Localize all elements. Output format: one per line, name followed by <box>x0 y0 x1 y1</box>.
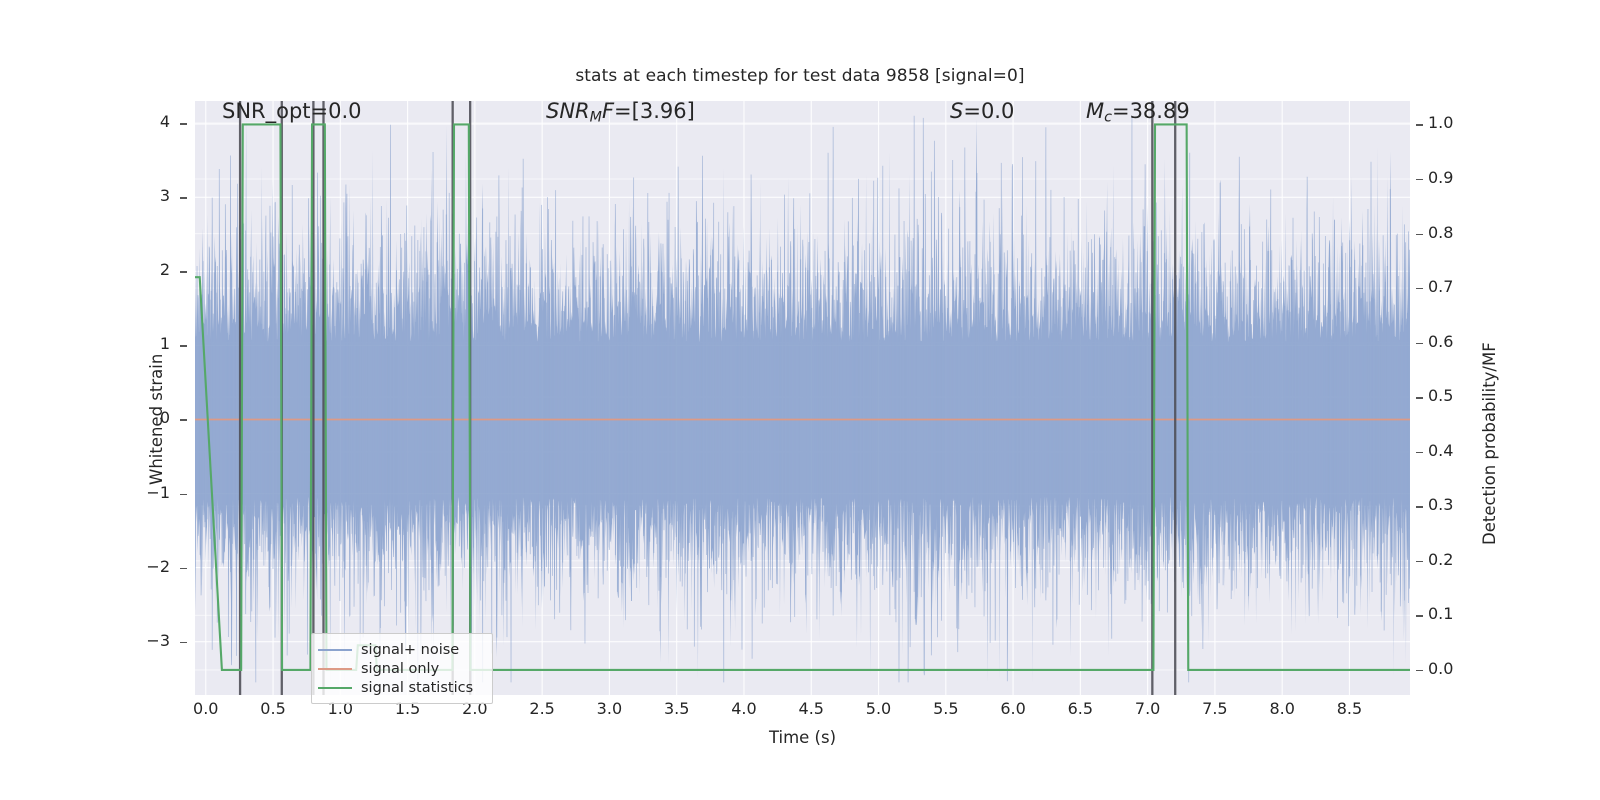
y-tick-label-right: 1.0 <box>1428 113 1453 132</box>
y-tick-mark-right <box>1416 615 1423 616</box>
y-tick-label-right: 0.5 <box>1428 386 1453 405</box>
y-tick-label-right: 0.4 <box>1428 441 1453 460</box>
y-tick-mark-right <box>1416 288 1423 289</box>
chart-legend: signal+ noisesignal onlysignal statistic… <box>311 633 493 704</box>
x-tick-label: 3.0 <box>597 699 622 718</box>
y-tick-mark-right <box>1416 506 1423 507</box>
y-tick-mark-left <box>180 568 187 569</box>
x-tick-label: 4.0 <box>731 699 756 718</box>
series-signal-noise <box>195 116 1410 683</box>
y-tick-mark-left <box>180 642 187 643</box>
y-tick-label-right: 0.0 <box>1428 659 1453 678</box>
y-tick-label-right: 0.2 <box>1428 550 1453 569</box>
y-tick-mark-right <box>1416 452 1423 453</box>
x-tick-label: 7.0 <box>1135 699 1160 718</box>
y-tick-label-right: 0.1 <box>1428 604 1453 623</box>
annotation-s-stat: S=0.0 <box>950 99 1014 123</box>
plot-svg <box>195 101 1410 695</box>
legend-label: signal+ noise <box>361 642 459 658</box>
x-tick-label: 5.5 <box>933 699 958 718</box>
y-tick-mark-right <box>1416 670 1423 671</box>
chart-title: stats at each timestep for test data 985… <box>0 66 1600 86</box>
plot-area <box>195 101 1410 695</box>
y-tick-mark-right <box>1416 397 1423 398</box>
legend-item[interactable]: signal statistics <box>318 678 484 697</box>
y-tick-label-right: 0.6 <box>1428 332 1453 351</box>
x-tick-label: 5.0 <box>866 699 891 718</box>
y-tick-mark-right <box>1416 234 1423 235</box>
y-axis-left-label: Whitened strain <box>147 354 166 485</box>
y-tick-label-right: 0.8 <box>1428 223 1453 242</box>
x-axis-label: Time (s) <box>195 728 1410 747</box>
y-tick-label-right: 0.9 <box>1428 168 1453 187</box>
legend-item[interactable]: signal+ noise <box>318 640 484 659</box>
y-tick-mark-left <box>180 494 187 495</box>
legend-swatch-icon <box>318 687 352 689</box>
x-tick-label: 4.5 <box>799 699 824 718</box>
y-tick-label-left: −3 <box>0 631 170 650</box>
y-tick-mark-right <box>1416 561 1423 562</box>
y-tick-mark-left <box>180 271 187 272</box>
y-tick-mark-left <box>180 345 187 346</box>
legend-label: signal only <box>361 661 439 677</box>
x-tick-label: 6.5 <box>1068 699 1093 718</box>
y-tick-mark-left <box>180 419 187 420</box>
y-tick-mark-right <box>1416 124 1423 125</box>
x-tick-label: 8.0 <box>1269 699 1294 718</box>
figure-canvas: stats at each timestep for test data 985… <box>0 0 1600 800</box>
y-tick-label-left: 0 <box>0 408 170 427</box>
y-tick-mark-right <box>1416 179 1423 180</box>
x-tick-label: 7.5 <box>1202 699 1227 718</box>
x-tick-label: 8.5 <box>1337 699 1362 718</box>
y-tick-label-left: −1 <box>0 483 170 502</box>
y-tick-label-left: 4 <box>0 112 170 131</box>
annotation-snr-opt: SNR_opt=0.0 <box>222 99 362 123</box>
legend-swatch-icon <box>318 668 352 670</box>
y-tick-label-left: 3 <box>0 186 170 205</box>
y-tick-label-left: 2 <box>0 260 170 279</box>
y-axis-right-label: Detection probability/MF <box>1480 342 1499 545</box>
legend-item[interactable]: signal only <box>318 659 484 678</box>
y-tick-label-left: 1 <box>0 334 170 353</box>
legend-label: signal statistics <box>361 680 473 696</box>
x-tick-label: 2.5 <box>529 699 554 718</box>
y-tick-mark-left <box>180 197 187 198</box>
x-tick-label: 0.0 <box>193 699 218 718</box>
annotation-snr-mf: SNRMF=[3.96] <box>546 99 695 126</box>
legend-swatch-icon <box>318 649 352 651</box>
x-tick-label: 6.0 <box>1000 699 1025 718</box>
x-tick-label: 3.5 <box>664 699 689 718</box>
annotation-chirp-mass: Mc=38.89 <box>1086 99 1190 126</box>
y-tick-mark-left <box>180 123 187 124</box>
y-tick-label-left: −2 <box>0 557 170 576</box>
y-tick-mark-right <box>1416 343 1423 344</box>
x-tick-label: 0.5 <box>260 699 285 718</box>
y-tick-label-right: 0.3 <box>1428 495 1453 514</box>
y-tick-label-right: 0.7 <box>1428 277 1453 296</box>
